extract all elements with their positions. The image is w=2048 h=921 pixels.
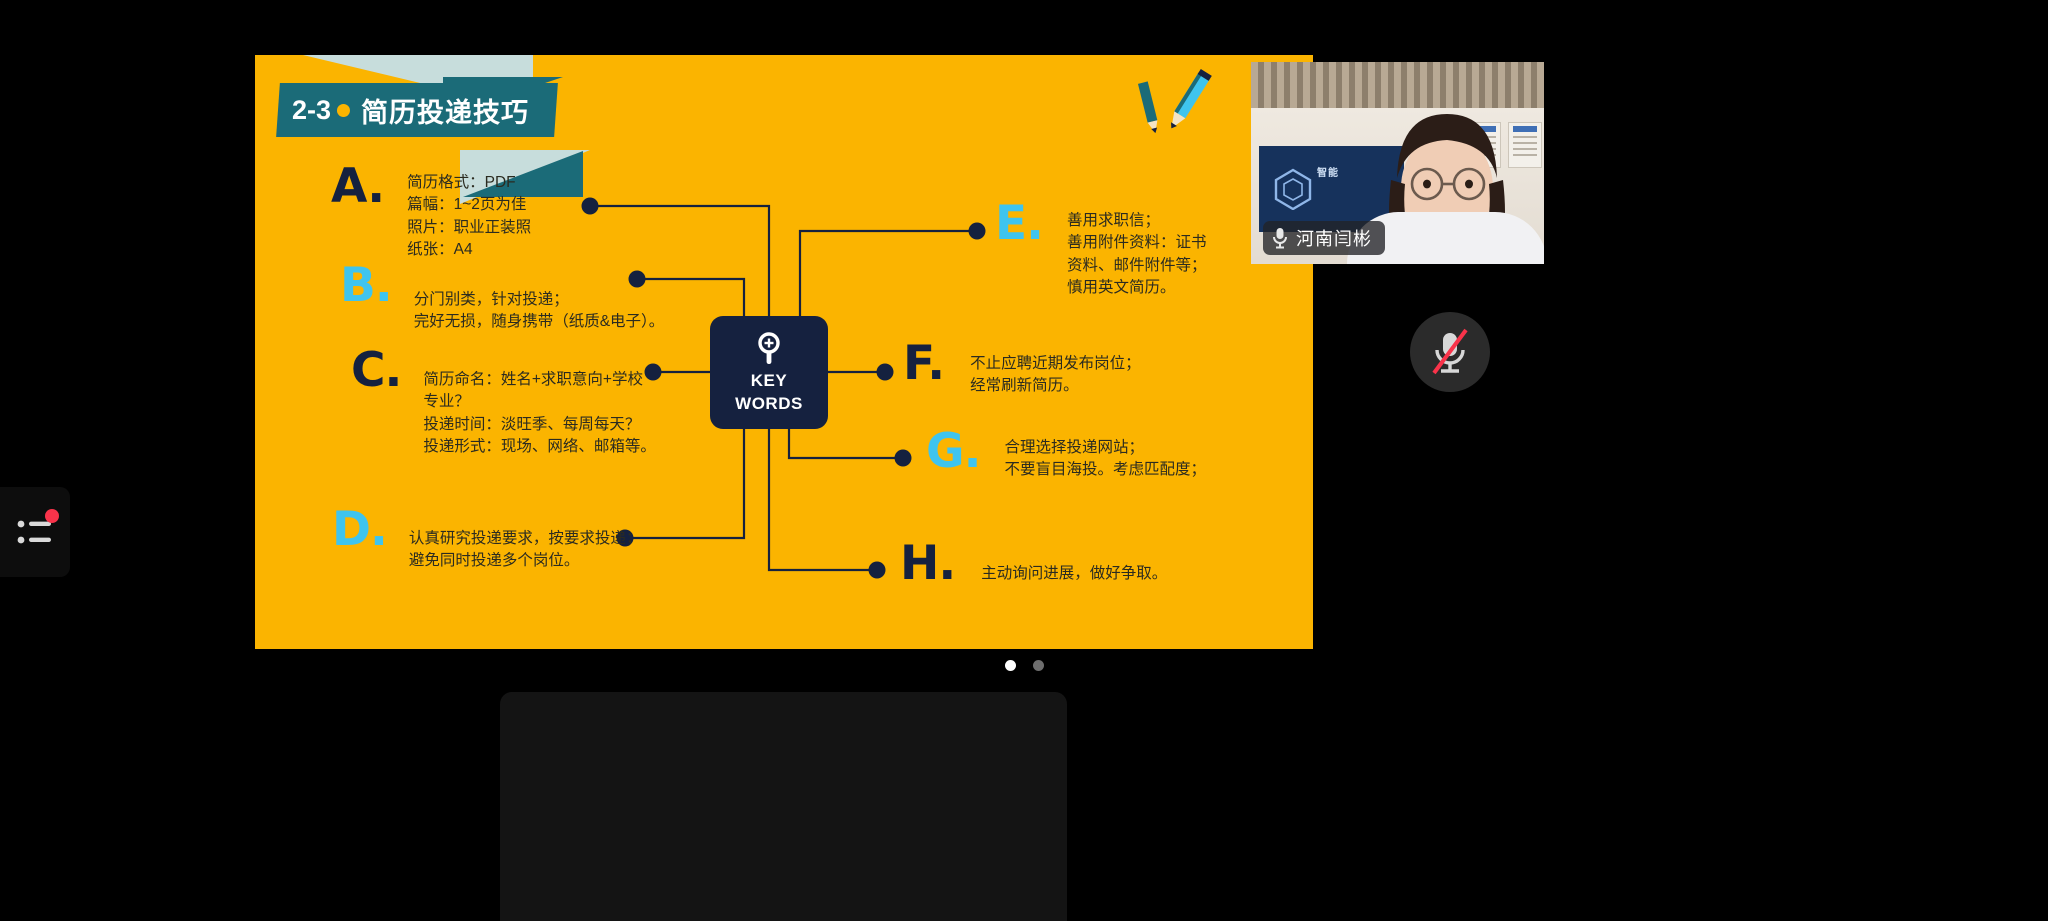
item-c-line-2: 专业？ (423, 391, 656, 413)
item-d-line-1: 认真研究投递要求，按要求投递； (409, 528, 642, 550)
keywords-center-node[interactable]: KEY WORDS (710, 316, 828, 429)
participant-name-chip: 河南闫彬 (1263, 221, 1385, 255)
banner-text: 智能 (1317, 164, 1339, 179)
item-letter-g: G. (926, 433, 980, 472)
mute-indicator-button[interactable] (1410, 312, 1490, 392)
microphone-icon (1272, 227, 1288, 249)
mindmap-item-g[interactable]: G. 合理选择投递网站； 不要盲目海投。考虑匹配度； (926, 433, 1206, 482)
item-b-line-2: 完好无损，随身携带（纸质&电子）。 (414, 311, 665, 333)
participant-name-label: 河南闫彬 (1296, 225, 1372, 251)
slide-title-number: 2-3 (292, 95, 331, 126)
pagination-dot-1[interactable] (1005, 660, 1016, 671)
mindmap-item-h[interactable]: H. 主动询问进展，做好争取。 (900, 545, 1167, 585)
item-b-line-1: 分门别类，针对投递； (414, 289, 665, 311)
item-g-line-1: 合理选择投递网站； (1004, 437, 1206, 459)
item-c-line-1: 简历命名：姓名+求职意向+学校 (423, 369, 656, 391)
slide-title-bar: 2-3 简历投递技巧 (276, 83, 558, 137)
item-f-line-1: 不止应聘近期发布岗位； (970, 353, 1141, 375)
item-g-line-2: 不要盲目海投。考虑匹配度； (1004, 459, 1206, 481)
item-d-line-2: 避免同时投递多个岗位。 (409, 550, 642, 572)
item-text-f: 不止应聘近期发布岗位； 经常刷新简历。 (970, 353, 1141, 398)
item-text-c: 简历命名：姓名+求职意向+学校 专业？ 投递时间：淡旺季、每周每天？ 投递形式：… (423, 369, 656, 459)
participants-list-widget[interactable] (0, 487, 70, 577)
item-letter-f: F. (903, 345, 944, 384)
mindmap-item-b[interactable]: B. 分门别类，针对投递； 完好无损，随身携带（纸质&电子）。 (340, 267, 664, 334)
magnifier-plus-icon (754, 332, 784, 366)
mindmap-item-e[interactable]: E. 善用求职信； 善用附件资料：证书 资料、邮件附件等； 慎用英文简历。 (995, 205, 1206, 300)
microphone-muted-icon (1429, 328, 1471, 376)
item-letter-h: H. (900, 545, 955, 584)
item-c-line-3: 投递时间：淡旺季、每周每天？ (423, 414, 656, 436)
hexagon-logo-icon (1273, 168, 1313, 210)
item-text-a: 简历格式：PDF 篇幅：1~2页为佳 照片：职业正装照 纸张：A4 (407, 172, 531, 262)
mindmap-item-f[interactable]: F. 不止应聘近期发布岗位； 经常刷新简历。 (903, 345, 1141, 398)
item-e-line-3: 资料、邮件附件等； (1067, 255, 1207, 277)
item-a-line-4: 纸张：A4 (407, 239, 531, 261)
presentation-slide[interactable]: 2-3 简历投递技巧 (255, 55, 1313, 649)
mindmap-item-c[interactable]: C. 简历命名：姓名+求职意向+学校 专业？ 投递时间：淡旺季、每周每天？ 投递… (351, 352, 656, 459)
mindmap-item-d[interactable]: D. 认真研究投递要求，按要求投递； 避免同时投递多个岗位。 (332, 511, 641, 573)
item-text-b: 分门别类，针对投递； 完好无损，随身携带（纸质&电子）。 (414, 289, 665, 334)
item-c-line-4: 投递形式：现场、网络、邮箱等。 (423, 436, 656, 458)
bullet-dot-icon (337, 104, 350, 117)
item-text-e: 善用求职信； 善用附件资料：证书 资料、邮件附件等； 慎用英文简历。 (1067, 210, 1207, 300)
item-a-line-3: 照片：职业正装照 (407, 217, 531, 239)
slide-pagination[interactable] (0, 660, 2048, 671)
item-f-line-2: 经常刷新简历。 (970, 375, 1141, 397)
slide-title-text: 简历投递技巧 (361, 91, 529, 130)
item-letter-a: A. (331, 168, 384, 207)
item-letter-b: B. (340, 267, 392, 306)
item-text-g: 合理选择投递网站； 不要盲目海投。考虑匹配度； (1004, 437, 1206, 482)
item-letter-e: E. (995, 205, 1043, 244)
keywords-line-1: KEY (751, 371, 787, 391)
pencil-icon (1123, 65, 1243, 145)
item-letter-d: D. (332, 511, 387, 550)
mindmap-item-a[interactable]: A. 简历格式：PDF 篇幅：1~2页为佳 照片：职业正装照 纸张：A4 (331, 168, 531, 262)
pagination-dot-2[interactable] (1033, 660, 1044, 671)
item-e-line-4: 慎用英文简历。 (1067, 277, 1207, 299)
meeting-bottom-bar[interactable] (500, 692, 1067, 921)
item-h-line-1: 主动询问进展，做好争取。 (981, 563, 1167, 585)
item-e-line-1: 善用求职信； (1067, 210, 1207, 232)
notification-badge (45, 509, 59, 523)
item-a-line-2: 篇幅：1~2页为佳 (407, 194, 531, 216)
item-text-d: 认真研究投递要求，按要求投递； 避免同时投递多个岗位。 (409, 528, 642, 573)
item-letter-c: C. (351, 352, 401, 391)
keywords-line-2: WORDS (735, 394, 803, 414)
item-a-line-1: 简历格式：PDF (407, 172, 531, 194)
participant-video-tile[interactable]: 智能 河南闫彬 (1251, 62, 1544, 264)
item-text-h: 主动询问进展，做好争取。 (981, 563, 1167, 585)
item-e-line-2: 善用附件资料：证书 (1067, 232, 1207, 254)
